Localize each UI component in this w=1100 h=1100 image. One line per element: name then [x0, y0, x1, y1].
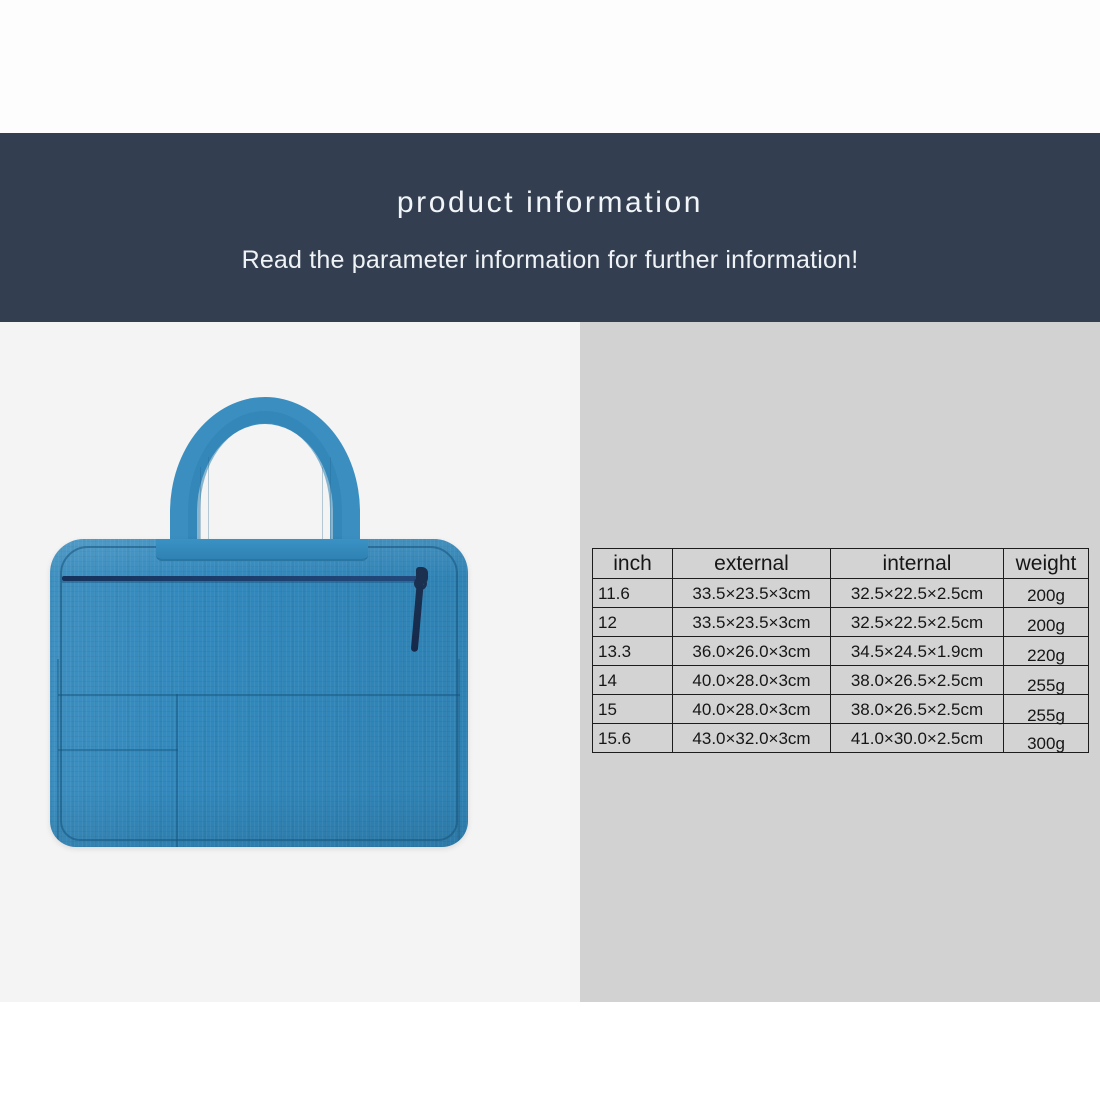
page-title: product information [397, 188, 703, 218]
bag-pocket-divider-seam [176, 694, 178, 847]
cell-external: 33.5×23.5×3cm [673, 608, 831, 637]
product-bag-illustration [50, 397, 470, 847]
cell-inch: 12 [593, 608, 673, 637]
bag-handle-group [170, 397, 360, 557]
top-white-gutter [0, 0, 1100, 133]
cell-internal: 41.0×30.0×2.5cm [831, 724, 1004, 753]
cell-weight: 220g [1004, 637, 1089, 666]
table-row: 15.6 43.0×32.0×3cm 41.0×30.0×2.5cm 300g [593, 724, 1089, 753]
cell-inch: 13.3 [593, 637, 673, 666]
cell-inch: 15.6 [593, 724, 673, 753]
bottom-white-gutter [0, 1002, 1100, 1100]
column-header-internal: internal [831, 549, 1004, 579]
table-row: 12 33.5×23.5×3cm 32.5×22.5×2.5cm 200g [593, 608, 1089, 637]
column-header-external: external [673, 549, 831, 579]
column-header-weight: weight [1004, 549, 1089, 579]
column-header-inch: inch [593, 549, 673, 579]
cell-weight: 255g [1004, 666, 1089, 695]
cell-internal: 32.5×22.5×2.5cm [831, 608, 1004, 637]
cell-weight: 200g [1004, 608, 1089, 637]
bag-inner-pocket-seam [58, 749, 178, 751]
cell-weight: 255g [1004, 695, 1089, 724]
cell-external: 40.0×28.0×3cm [673, 666, 831, 695]
cell-weight: 200g [1004, 579, 1089, 608]
page-subtitle: Read the parameter information for furth… [242, 248, 859, 273]
bag-right-edge-piping [458, 659, 460, 841]
spec-table-head: inch external internal weight [593, 549, 1089, 579]
cell-weight-text: 200g [1027, 616, 1065, 635]
spec-table-panel: inch external internal weight 11.6 33.5×… [580, 322, 1100, 1002]
bag-left-edge-piping [57, 659, 59, 841]
header-banner: product information Read the parameter i… [0, 133, 1100, 322]
cell-weight: 300g [1004, 724, 1089, 753]
cell-weight-text: 255g [1027, 706, 1065, 725]
bag-body [50, 539, 468, 847]
cell-external: 33.5×23.5×3cm [673, 579, 831, 608]
spec-table-header-row: inch external internal weight [593, 549, 1089, 579]
bag-handle-base-plate [156, 539, 368, 561]
cell-external: 36.0×26.0×3cm [673, 637, 831, 666]
cell-weight-text: 300g [1027, 734, 1065, 753]
cell-inch: 15 [593, 695, 673, 724]
cell-internal: 38.0×26.5×2.5cm [831, 666, 1004, 695]
cell-weight-text: 255g [1027, 676, 1065, 695]
spec-table-body: 11.6 33.5×23.5×3cm 32.5×22.5×2.5cm 200g … [593, 579, 1089, 753]
cell-inch: 11.6 [593, 579, 673, 608]
product-image-panel [0, 322, 580, 1002]
table-row: 11.6 33.5×23.5×3cm 32.5×22.5×2.5cm 200g [593, 579, 1089, 608]
product-information-page: product information Read the parameter i… [0, 0, 1100, 1100]
cell-external: 43.0×32.0×3cm [673, 724, 831, 753]
bag-pocket-seam-horizontal [58, 694, 460, 696]
cell-inch: 14 [593, 666, 673, 695]
cell-internal: 34.5×24.5×1.9cm [831, 637, 1004, 666]
content-area: inch external internal weight 11.6 33.5×… [0, 322, 1100, 1002]
cell-internal: 32.5×22.5×2.5cm [831, 579, 1004, 608]
table-row: 15 40.0×28.0×3cm 38.0×26.5×2.5cm 255g [593, 695, 1089, 724]
cell-internal: 38.0×26.5×2.5cm [831, 695, 1004, 724]
table-row: 14 40.0×28.0×3cm 38.0×26.5×2.5cm 255g [593, 666, 1089, 695]
cell-external: 40.0×28.0×3cm [673, 695, 831, 724]
table-row: 13.3 36.0×26.0×3cm 34.5×24.5×1.9cm 220g [593, 637, 1089, 666]
cell-weight-text: 220g [1027, 646, 1065, 665]
bag-zipper-seam-shadow [62, 581, 424, 583]
specification-table: inch external internal weight 11.6 33.5×… [592, 548, 1089, 753]
spec-table-container: inch external internal weight 11.6 33.5×… [592, 548, 1088, 753]
cell-weight-text: 200g [1027, 586, 1065, 605]
